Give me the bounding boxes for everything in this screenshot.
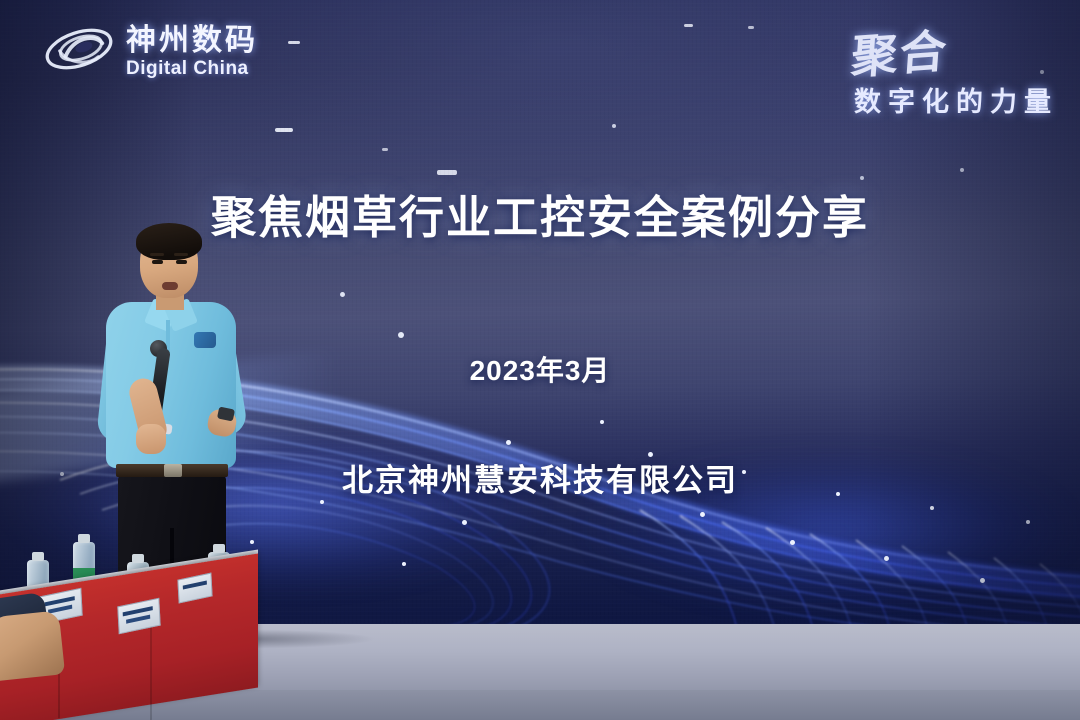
eyebrow-right: [174, 253, 188, 256]
speaker-hand-holding-mic: [136, 424, 166, 454]
name-card-text: [126, 615, 150, 624]
conference-photo: 神州数码 Digital China 聚合 数字化的力量 聚焦烟草行业工控安全案…: [0, 0, 1080, 720]
particle: [340, 292, 345, 297]
bottle-cap: [132, 554, 144, 563]
slogan-subtitle: 数字化的力量: [852, 80, 1058, 119]
mouth: [162, 282, 178, 290]
particle: [960, 168, 964, 172]
particle: [612, 124, 616, 128]
bottle-cap: [32, 552, 44, 561]
particle: [748, 26, 754, 29]
logo-chinese-name: 神州数码: [126, 26, 258, 56]
particle: [382, 148, 388, 151]
seated-attendee: [0, 610, 65, 681]
bottle-cap: [78, 534, 90, 543]
shirt-chest-logo: [194, 332, 216, 348]
belt-buckle: [164, 464, 182, 477]
particle: [437, 170, 457, 175]
eye-left: [152, 260, 163, 264]
digital-china-logo: 神州数码 Digital China: [40, 18, 258, 85]
eye-right: [176, 260, 187, 264]
bottle-cap: [213, 544, 225, 553]
particle: [860, 176, 864, 180]
speaker-hair: [136, 223, 202, 260]
table-skirt-fold: [150, 614, 152, 720]
particle: [684, 24, 693, 27]
name-card-text: [183, 581, 207, 590]
particle: [288, 41, 300, 44]
particle: [275, 128, 293, 132]
eyebrow-left: [150, 253, 164, 256]
event-slogan: 聚合 数字化的力量: [852, 18, 1058, 119]
name-card-text: [48, 605, 72, 614]
logo-english-name: Digital China: [126, 59, 258, 78]
digital-china-swirl-icon: [40, 18, 118, 85]
slogan-calligraphy: 聚合: [849, 15, 950, 88]
